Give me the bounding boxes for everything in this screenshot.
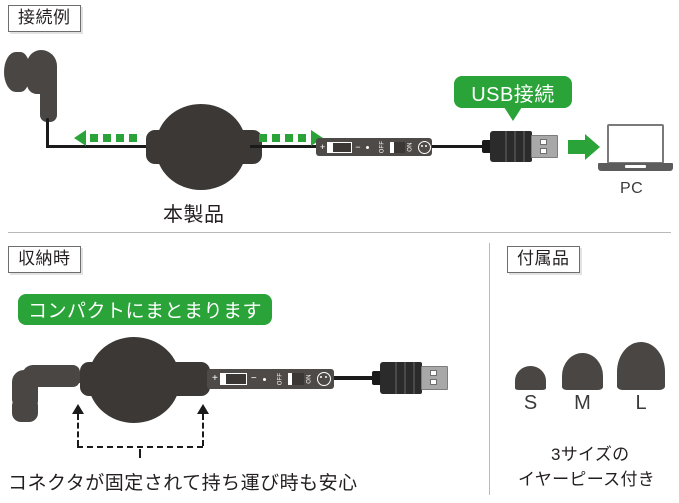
divider-vertical (489, 243, 490, 495)
switch-on-label: ON (408, 142, 414, 151)
eartip-large-label: L (617, 392, 665, 415)
inline-control-module-stored: + − OFF ON (207, 369, 334, 389)
product-diagram-page: 接続例 本製品 + − (0, 0, 679, 503)
product-label: 本製品 (163, 198, 225, 227)
indicator-dot-stored (263, 378, 266, 381)
section-tag-accessories: 付属品 (507, 246, 580, 273)
mic-toggle-switch[interactable] (390, 142, 405, 153)
eartip-small-label: S (515, 392, 546, 415)
eartip-medium (562, 353, 603, 390)
switch-off-label: OFF (380, 141, 386, 154)
earbud-stem (40, 80, 57, 122)
indicator-dot (366, 146, 369, 149)
pc-label: PC (620, 180, 643, 198)
section-tag-connection: 接続例 (8, 5, 81, 32)
volume-slider-stored[interactable] (220, 373, 247, 385)
switch-on-label-stored: ON (307, 374, 313, 383)
volume-down-label-stored: − (251, 374, 257, 384)
volume-down-label: − (355, 143, 360, 152)
eartip-medium-label: M (562, 392, 603, 415)
usb-badge-tail (504, 107, 522, 121)
switch-off-label-stored: OFF (278, 373, 284, 386)
compact-badge: コンパクトにまとまります (18, 294, 272, 325)
cable-stored-to-usb (334, 376, 374, 380)
section-tag-storage: 収納時 (8, 246, 81, 273)
storage-caption: コネクタが固定されて持ち運び時も安心 (8, 468, 358, 495)
microphone-icon (418, 141, 431, 154)
eartip-small (515, 366, 546, 390)
accessories-caption-line1: 3サイズの (551, 440, 629, 465)
cable-control-to-usb (432, 145, 484, 148)
divider-horizontal (8, 232, 671, 233)
volume-up-label-stored: + (212, 374, 218, 384)
cable-earbud-vertical (46, 118, 49, 148)
volume-up-label: + (320, 143, 325, 152)
eartip-large (617, 342, 665, 390)
usb-connect-badge: USB接続 (454, 76, 572, 108)
mic-toggle-switch-stored[interactable] (288, 373, 304, 385)
volume-slider[interactable] (327, 142, 352, 153)
accessories-caption-line2: イヤーピース付き (518, 465, 655, 490)
inline-control-module: + − OFF ON (316, 138, 432, 156)
cable-reel-to-control (250, 145, 318, 148)
microphone-icon-stored (317, 372, 331, 386)
